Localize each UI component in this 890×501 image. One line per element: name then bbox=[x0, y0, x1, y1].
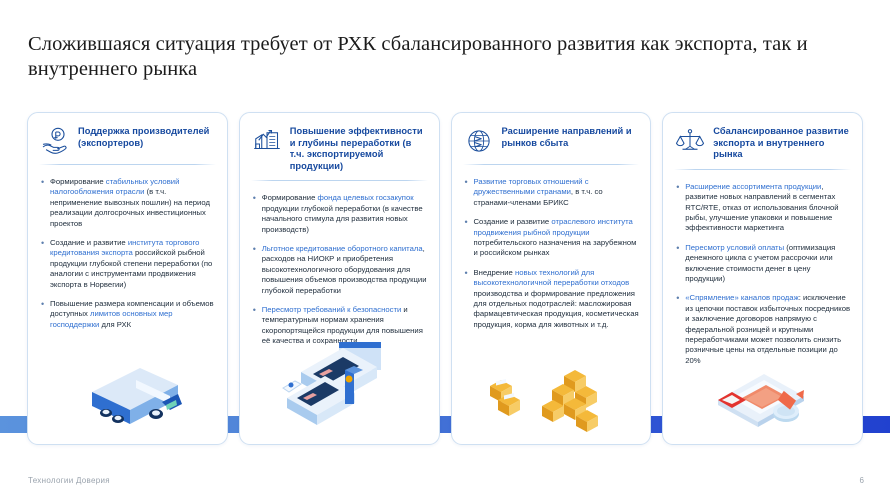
card-support-producers[interactable]: Поддержка производителей (экспортеров) •… bbox=[27, 112, 228, 445]
card-balanced-development[interactable]: Сбалансированное развитие экспорта и вну… bbox=[662, 112, 863, 445]
list-item: •Внедрение новых технологий для высокоте… bbox=[465, 268, 640, 330]
bullet-text: Формирование стабильных условий налогооб… bbox=[50, 177, 216, 229]
card-title: Сбалансированное развитие экспорта и вну… bbox=[713, 125, 851, 161]
page-title: Сложившаяся ситуация требует от РХК сбал… bbox=[28, 32, 850, 82]
bullet-list: •Развитие торговых отношений с дружестве… bbox=[452, 165, 651, 444]
bullet-dot: • bbox=[253, 305, 262, 347]
bullet-dot: • bbox=[41, 238, 50, 290]
list-item: •Развитие торговых отношений с дружестве… bbox=[465, 177, 640, 208]
list-item: •Льготное кредитование оборотного капита… bbox=[253, 244, 428, 296]
list-item: •Расширение ассортимента продукции, разв… bbox=[676, 182, 851, 234]
bullet-text: Пересмотр условий оплаты (оптимизация де… bbox=[685, 243, 851, 285]
bullet-text: Пересмотр требований к безопасности и те… bbox=[262, 305, 428, 347]
bullet-dot: • bbox=[465, 217, 474, 259]
highlighted-text: Пересмотр требований к безопасности bbox=[262, 305, 402, 314]
card-header: Поддержка производителей (экспортеров) bbox=[28, 113, 227, 164]
bullet-dot: • bbox=[253, 244, 262, 296]
bullet-dot: • bbox=[41, 299, 50, 330]
bullet-text: Расширение ассортимента продукции, разви… bbox=[685, 182, 851, 234]
bullet-list: •Формирование фонда целевых госзакупок п… bbox=[240, 181, 439, 444]
list-item: •Создание и развитие института торгового… bbox=[41, 238, 216, 290]
bullet-text: Формирование фонда целевых госзакупок пр… bbox=[262, 193, 428, 235]
list-item: •Формирование фонда целевых госзакупок п… bbox=[253, 193, 428, 235]
plain-text: для РХК bbox=[99, 320, 131, 329]
plain-text: производства и формирование предложения … bbox=[474, 289, 639, 329]
bullet-dot: • bbox=[41, 177, 50, 229]
card-header: Повышение эффективности и глубины перера… bbox=[240, 113, 439, 180]
card-title: Повышение эффективности и глубины перера… bbox=[290, 125, 428, 172]
cards-row: Поддержка производителей (экспортеров) •… bbox=[27, 112, 863, 445]
card-processing-efficiency[interactable]: Повышение эффективности и глубины перера… bbox=[239, 112, 440, 445]
bullet-list: •Расширение ассортимента продукции, разв… bbox=[663, 170, 862, 444]
bullet-text: Льготное кредитование оборотного капитал… bbox=[262, 244, 428, 296]
plain-text: Создание и развитие bbox=[474, 217, 552, 226]
bullet-text: Создание и развитие отраслевого институт… bbox=[474, 217, 640, 259]
highlighted-text: Пересмотр условий оплаты bbox=[685, 243, 784, 252]
plain-text: Формирование bbox=[50, 177, 106, 186]
balance-scales-icon bbox=[675, 126, 705, 156]
page-number: 6 bbox=[860, 476, 864, 485]
list-item: •Формирование стабильных условий налогоо… bbox=[41, 177, 216, 229]
slide-root: Сложившаяся ситуация требует от РХК сбал… bbox=[0, 0, 890, 501]
list-item: •Пересмотр условий оплаты (оптимизация д… bbox=[676, 243, 851, 285]
bullet-text: Создание и развитие института торгового … bbox=[50, 238, 216, 290]
card-markets-expansion[interactable]: Расширение направлений и рынков сбыта •Р… bbox=[451, 112, 652, 445]
highlighted-text: фонда целевых госзакупок bbox=[318, 193, 414, 202]
card-title: Поддержка производителей (экспортеров) bbox=[78, 125, 216, 149]
card-title: Расширение направлений и рынков сбыта bbox=[502, 125, 640, 149]
plain-text: Формирование bbox=[262, 193, 318, 202]
bullet-dot: • bbox=[676, 182, 685, 234]
bullet-dot: • bbox=[465, 268, 474, 330]
factory-growth-chart-icon bbox=[252, 126, 282, 156]
list-item: •«Спрямление» каналов продаж: исключение… bbox=[676, 293, 851, 366]
highlighted-text: Расширение ассортимента продукции bbox=[685, 182, 821, 191]
plain-text: Внедрение bbox=[474, 268, 515, 277]
plain-text: : исключение из цепочки поставок избыточ… bbox=[685, 293, 850, 364]
list-item: •Создание и развитие отраслевого институ… bbox=[465, 217, 640, 259]
globe-arrows-icon bbox=[464, 126, 494, 156]
footer-brand: Технологии Доверия bbox=[28, 476, 110, 485]
bullet-text: Внедрение новых технологий для высокотех… bbox=[474, 268, 640, 330]
plain-text: Создание и развитие bbox=[50, 238, 128, 247]
list-item: •Пересмотр требований к безопасности и т… bbox=[253, 305, 428, 347]
card-header: Сбалансированное развитие экспорта и вну… bbox=[663, 113, 862, 169]
bullet-dot: • bbox=[676, 293, 685, 366]
highlighted-text: Льготное кредитование оборотного капитал… bbox=[262, 244, 423, 253]
bullet-dot: • bbox=[465, 177, 474, 208]
bullet-text: Развитие торговых отношений с дружествен… bbox=[474, 177, 640, 208]
highlighted-text: «Спрямление» каналов продаж bbox=[685, 293, 798, 302]
bullet-text: «Спрямление» каналов продаж: исключение … bbox=[685, 293, 851, 366]
bullet-dot: • bbox=[253, 193, 262, 235]
bullet-text: Повышение размера компенсации и объемов … bbox=[50, 299, 216, 330]
bullet-list: •Формирование стабильных условий налогоо… bbox=[28, 165, 227, 444]
list-item: •Повышение размера компенсации и объемов… bbox=[41, 299, 216, 330]
plain-text: потребительского назначения на зарубежно… bbox=[474, 238, 637, 257]
card-header: Расширение направлений и рынков сбыта bbox=[452, 113, 651, 164]
plain-text: продукции глубокой переработки (в качест… bbox=[262, 204, 423, 234]
hand-holding-ruble-coin-icon bbox=[40, 126, 70, 156]
bullet-dot: • bbox=[676, 243, 685, 285]
